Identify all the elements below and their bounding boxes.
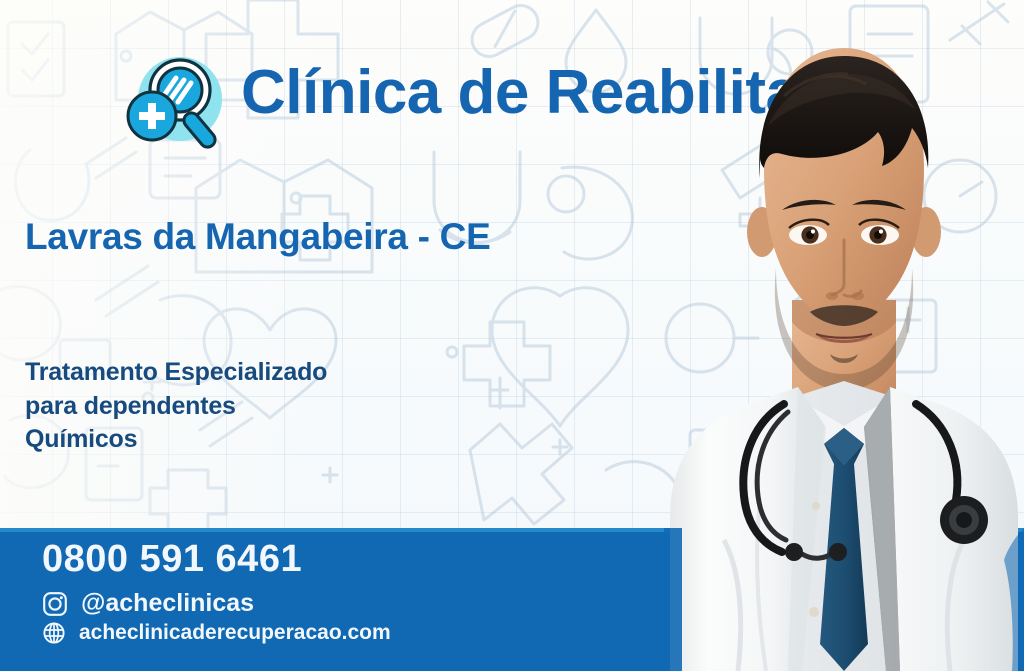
treatment-line-1: Tratamento Especializado <box>25 356 327 390</box>
website-url: acheclinicaderecuperacao.com <box>79 621 391 645</box>
treatment-line-3: Químicos <box>25 423 327 457</box>
phone-number[interactable]: 0800 591 6461 <box>42 538 302 581</box>
instagram-contact[interactable]: @acheclinicas <box>42 589 254 618</box>
clinic-banner: Clínica de Reabilitação Lavras da Mangab… <box>0 0 1024 671</box>
doctor-photo <box>664 0 1024 671</box>
website-contact[interactable]: acheclinicaderecuperacao.com <box>42 621 391 645</box>
instagram-icon <box>42 591 68 617</box>
magnifier-plus-medical-icon <box>118 50 234 156</box>
treatment-description: Tratamento Especializado para dependente… <box>25 356 327 457</box>
instagram-handle: @acheclinicas <box>81 589 254 618</box>
city-subtitle: Lavras da Mangabeira - CE <box>25 216 490 258</box>
treatment-line-2: para dependentes <box>25 390 327 424</box>
globe-icon <box>42 621 66 645</box>
